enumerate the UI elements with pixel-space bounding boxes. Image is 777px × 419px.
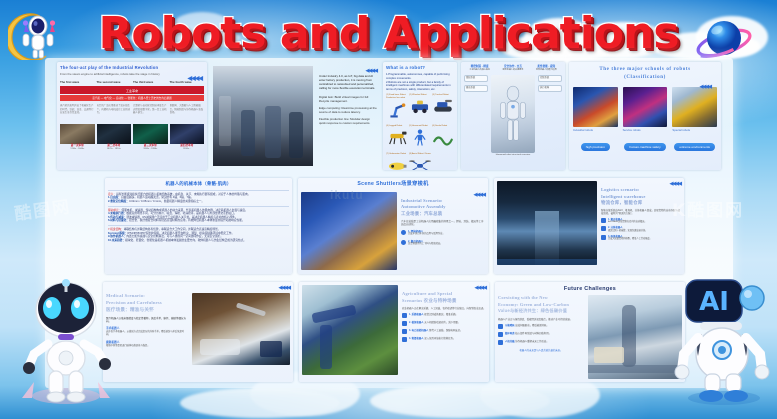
future-bullet-text: 核心部件再制造与材料回收利用。 — [515, 332, 551, 335]
future-factory-humanoid-photo — [588, 295, 682, 379]
future-bullet-title: 循环再造 — [505, 332, 515, 335]
panel-humanoid-overview: 精密制造 · 精度 工业机器人的核心指标 安全协作 · 交互 服务机器人的关键要… — [461, 62, 565, 170]
panel-three-schools: The three major schools of robots (Class… — [569, 62, 721, 170]
humanoid-tag: 精密制造 · 精度 工业机器人的核心指标 — [464, 65, 495, 72]
revolution-subtitle: From the steam engine to artificial inte… — [60, 72, 204, 76]
panel-logistics: ◀◀◀◀ Logistics scenario: Intelligent war… — [494, 178, 684, 274]
humanoid-sidecard: 执行机构 — [538, 85, 562, 92]
block-text: 根据应用场景不同，可分为夹爪、吸盘、焊枪、喷涂枪等，是机器人与外部世界交互的接口… — [126, 212, 236, 215]
humanoid-sidecard: 感知系统 — [464, 75, 488, 82]
logistics-title-en-1: Logistics scenario: — [601, 187, 681, 194]
humanoid-tag-sub: 工业机器人的核心指标 — [464, 69, 495, 72]
block-text: 自由度越多，机器人运动越灵活，常见的有 4轴、6轴、7轴。 — [121, 196, 193, 199]
future-bullet-title: 人机共融 — [505, 340, 515, 343]
block-text: 铝合金、碳纤维复合材料等轻质高强材料的应用，有效降低机器人本体重量并提升动态响应… — [129, 219, 245, 222]
agri-intro: 农业机器人正在解决采摘、人工短缺、农药喷洒等行业痛点，向智慧农业迈进。 — [402, 307, 486, 310]
industry40-paragraph: Under Industry 4.0, as IoT, big data and… — [319, 74, 377, 91]
steam-engine-photo — [60, 124, 95, 144]
bullet-marker-icon — [402, 313, 407, 318]
electrification-photo — [97, 124, 132, 144]
school-item-service: Service robots human-machine safety — [623, 87, 668, 153]
panel-what-is-a-robot: What is a robot? 1.Programmable, autonom… — [383, 62, 457, 170]
agri-bullet-text: 深入危险环境执行搜救任务。 — [424, 337, 455, 340]
humanoid-robot-icon — [409, 128, 431, 147]
robot-type-cell: (1) Fixed base Robot: Production line ro… — [386, 94, 408, 124]
intelligent-warehouse-photo — [497, 181, 597, 265]
block-tag: 2.重复定位精度： — [108, 200, 129, 203]
humanoid-robot-figure — [491, 75, 535, 153]
panel-industrial-revolution: The four-act play of the Industrial Revo… — [57, 62, 207, 170]
robot-type-cell: (6) Snake Robot — [432, 125, 454, 152]
col-years: 1950s - 1990s — [133, 148, 168, 151]
agri-title-en-1: Agriculture and Special — [402, 291, 486, 298]
robot-type-cell: (3) Tracked Robot — [432, 94, 454, 124]
scene-bullet-text: 完成车身白车身的点焊与弧焊作业。 — [408, 233, 445, 236]
scene-bullet-text: 负责零部件的上下料与物流转运。 — [408, 243, 442, 246]
scene-subtitle-cn: 工业场景：汽车总装 — [401, 211, 485, 218]
block-text: 串联结构与并联结构各有优势，串联适合大工作空间，并联适合高速高精度场景。 — [124, 228, 221, 231]
poster-root: Robots and Applications The four-act pla… — [0, 0, 777, 419]
humanoid-sidecards-left: 感知系统 驱动系统 — [464, 75, 488, 153]
humanoid-tag-sub: 特种机器人的能力边界 — [531, 69, 562, 72]
robot-type-cell: (2) Wheeled Robot — [409, 94, 431, 124]
school-pill[interactable]: extreme environments — [674, 143, 715, 151]
school-caption: Service robots — [623, 129, 668, 133]
medical-title-en-1: Medical Scenario: — [106, 293, 188, 300]
block-tag: 7.机身结构： — [108, 228, 124, 231]
block-tag: 4.末端执行器： — [108, 212, 126, 215]
bullet-marker-icon — [402, 321, 407, 326]
industry40-bullet: Flexible production line: Modular design… — [319, 117, 377, 125]
agricultural-robot-photo — [302, 285, 398, 375]
revolution-col-2: 电力的广泛应用推动了流水线生产，内燃机与电机成为工业新动力。 第二次革命 187… — [97, 104, 132, 151]
medical-bullet-text: 达芬奇手术机器人，以微创方式完成复杂的外科手术，降低创伤与术后恢复时间。 — [106, 331, 188, 338]
logistics-bullet-text: AGV/AMR实现货物在库内的自动搬运。 — [608, 221, 647, 224]
humanoid-sidecard: 驱动系统 — [464, 85, 488, 92]
medical-bullet-text: 帮助中风等患者进行肢体功能训练与恢复。 — [106, 345, 188, 348]
future-intro: 机器人产业正与绿色制造、低碳经济深度融合，推动产业可持续发展。 — [498, 318, 584, 321]
future-bullet-text: 协作机器人重塑未来工作形态。 — [515, 340, 548, 343]
bullet-marker-icon — [402, 329, 407, 334]
block-tag: 9.协作机器人： — [108, 235, 126, 238]
revolution-banner-sub: 蒸汽机 — 电气化 — 自动化 — 智能化：机器人登上历史舞台的四幕剧 — [60, 95, 204, 101]
schools-title-line2: (Classification) — [573, 74, 717, 82]
agri-bullet-title: 4. 救援机器人 — [409, 337, 424, 340]
humanoid-tag-sub: 服务机器人的关键要求 — [497, 69, 528, 72]
robot-type-grid: (1) Fixed base Robot: Production line ro… — [386, 94, 454, 170]
revolution-col-1: 蒸汽机的发明开启了机械化生产的时代，纺织、冶金、交通等行业发生革命性变化。 第一… — [60, 104, 95, 151]
mechanical-body-block: 2.重复定位精度：0.02mm / 0.05mm / 0.1mm，衡量机器人精度… — [108, 200, 289, 204]
panel-agriculture: ◀◀◀◀ Agriculture and Special Scenarios 农… — [299, 282, 489, 382]
future-bullet-title: 节能降耗 — [505, 324, 515, 327]
bullet-marker-icon — [601, 218, 606, 223]
revolution-chevrons: ◀◀◀◀ — [188, 75, 202, 82]
agri-bullet-title: 1. 采摘机器人 — [409, 313, 424, 316]
industrial-arm-icon — [386, 100, 408, 119]
block-text: 模块化、轻量化、智能化是机器人机械本体发展的主要方向，软体机器人与仿生结构正成为… — [125, 239, 246, 242]
industrial-robot-photo — [573, 87, 618, 127]
service-robot-photo — [623, 87, 668, 127]
robot-type-cell: (8) Aerial Robot / Drone — [409, 153, 431, 170]
wheeled-robot-icon — [409, 97, 431, 116]
scene-subtitle-en-1: Industrial Scenario: — [401, 198, 485, 205]
bullet-marker-icon — [498, 340, 503, 345]
underwater-robot-icon — [386, 156, 408, 170]
quadruped-robot-icon — [386, 128, 408, 147]
industry40-bullet: Digital twin: Build virtual images for f… — [319, 95, 377, 103]
bullet-marker-icon — [498, 332, 503, 337]
white-robot-mascot — [18, 278, 114, 406]
revolution-title: The four-act play of the Industrial Revo… — [60, 65, 204, 71]
future-title: Future Challenges — [498, 285, 682, 293]
block-text: 内置力矩传感器与安全控制算法，可与人类在同一空间协同作业，无需安全围栏。 — [126, 235, 223, 238]
block-tag: 1.自由度： — [108, 196, 121, 199]
medical-title-en-2: Precision and Carefulness — [106, 300, 188, 307]
automotive-assembly-line-photo — [301, 192, 397, 270]
scene-title: Scene Shuttlers场景穿梭机 — [301, 181, 485, 189]
school-pill[interactable]: human-machine safety — [624, 143, 665, 151]
agri-bullet-title: 2. 植保机器人 — [409, 321, 424, 324]
what-is-robot-title: What is a robot? — [386, 65, 454, 72]
industry40-bullet: Edge computing: Real-time processing at … — [319, 106, 377, 114]
page-title: Robots and Applications — [98, 8, 678, 59]
humanoid-tags: 精密制造 · 精度 工业机器人的核心指标 安全协作 · 交互 服务机器人的关键要… — [464, 65, 562, 72]
mechanical-body-title: 机器人的机械本体（骨骼-肌肉） — [108, 181, 289, 188]
ai-robot-mascot: AI — [672, 276, 776, 406]
schools-chevrons: ◀◀◀◀ — [700, 84, 711, 90]
medical-title-cn: 医疗场景：精准与关怀 — [106, 307, 188, 314]
surgical-robot-photo — [192, 293, 290, 365]
panel-scene-shuttlers: Scene Shuttlers场景穿梭机 ◀◀◀◀ Industrial Sce… — [298, 178, 488, 274]
drone-icon — [409, 156, 431, 170]
watermark-center: ikutu — [330, 188, 364, 202]
col-years: 1870s - 1910s — [97, 148, 132, 151]
col-head: The second wave — [97, 80, 132, 84]
bullet-marker-icon — [401, 230, 406, 235]
panel-medical: Medical Scenario: Precision and Carefuln… — [103, 282, 293, 382]
school-item-special: Special robots extreme environments — [672, 87, 717, 153]
agri-bullet-title: 3. 电力巡检机器人 — [409, 329, 428, 332]
bullet-marker-icon — [601, 226, 606, 231]
medical-chevrons: ◀◀◀◀ — [192, 285, 290, 291]
smart-factory-assembly-line-photo — [213, 66, 313, 166]
schools-title-line1: The three major schools of robots — [573, 66, 717, 74]
bullet-marker-icon — [601, 235, 606, 240]
school-caption: Industrial robots — [573, 129, 618, 133]
panel-industry40: ◀◀◀◀ Under Industry 4.0, as IoT, big dat… — [317, 66, 379, 166]
bullet-marker-icon — [402, 337, 407, 342]
future-title-en-1: Coexisting with the New — [498, 295, 584, 302]
tracked-robot-icon — [432, 97, 454, 116]
col-years: 1760s - 1840s — [60, 148, 95, 151]
future-title-cn: Value与新经济共生：绿色低碳价值 — [498, 308, 584, 314]
block-text: 0.02mm / 0.05mm / 0.1mm，衡量机器人精度的关键指标之一。 — [129, 200, 204, 203]
computer-automation-photo — [133, 124, 168, 144]
block-tag: 6.材料与轻量化： — [108, 219, 129, 222]
smart-manufacturing-photo — [170, 124, 205, 144]
humanoid-tag: 柔性智能 · 感知 特种机器人的能力边界 — [531, 65, 562, 72]
humanoid-sidecard: 控制系统 — [538, 75, 562, 82]
panel-mechanical-body: 机器人的机械本体（骨骼-肌肉） 定义：具有智能感知和执行能力的机器人机械结构系统… — [105, 178, 292, 274]
poster-title-wrap: Robots and Applications — [0, 8, 777, 59]
school-item-industrial: Industrial robots high precision — [573, 87, 618, 153]
revolution-col-4: 物联网、大数据与人工智能融合，智能制造与协作机器人全面登场。 第四次革命 201… — [170, 104, 205, 151]
humanoid-tag: 安全协作 · 交互 服务机器人的关键要求 — [497, 65, 528, 72]
humanoid-sidecards-right: 控制系统 执行机构 — [538, 75, 562, 153]
revolution-banner-top: 工业革命 — [60, 86, 204, 94]
future-bullet-text: 高效伺服驱动，降低能源消耗。 — [515, 324, 548, 327]
robot-type-cell: (7) Underwater Robot — [386, 153, 408, 170]
mechanical-body-block: 6.材料与轻量化：铝合金、碳纤维复合材料等轻质高强材料的应用，有效降低机器人本体… — [108, 219, 289, 223]
revolution-column-heads: The first wave The second wave The third… — [60, 80, 204, 84]
logistics-title-cn: 物流仓库，智能仓库 — [601, 200, 681, 207]
col-years: 2010s - — [170, 148, 205, 151]
robot-type-cell: (4) Legged Robot — [386, 125, 408, 152]
special-robot-photo — [672, 87, 717, 127]
logistics-bullet-text: 完成大批量货物的堆叠，降低人工劳动强度。 — [608, 238, 652, 241]
col-head: The third wave — [133, 80, 168, 84]
mechanical-body-block: 10.未来趋势：模块化、轻量化、智能化是机器人机械本体发展的主要方向，软体机器人… — [108, 239, 289, 243]
school-caption: Special robots — [672, 129, 717, 133]
content-board: The four-act play of the Industrial Revo… — [45, 58, 733, 388]
robot-type-cell: (5) Humanoid Robot — [409, 125, 431, 152]
medical-intro: 医疗机器人以毫米级精度与稳定性著称，涵盖手术、康复、辅助等细分方向。 — [106, 317, 188, 324]
logistics-bullet-text: 视觉识别＋机械臂，实现包裹高速分拣。 — [608, 230, 647, 233]
scene-intro: 汽车总装线是工业机器人应用最密集的场景之一，焊接、涂装、搬运等工序高度自动化。 — [401, 220, 485, 227]
agri-bullet-text: 视觉识别成熟果实，精准采摘。 — [424, 313, 457, 316]
revolution-columns: 蒸汽机的发明开启了机械化生产的时代，纺织、冶金、交通等行业发生革命性变化。 第一… — [60, 104, 204, 151]
what-is-robot-line: 1.Programmable, autonomous, capable of p… — [386, 73, 454, 81]
revolution-col-3: 计算机与自动化控制技术使生产过程实现数字化，第一台工业机器人诞生。 第三次革命 … — [133, 104, 168, 151]
col-head: The first wave — [60, 80, 95, 84]
block-tag: 10.未来趋势： — [108, 239, 125, 242]
humanoid-caption: Humanoid robot structural overview — [464, 154, 562, 157]
ai-badge-text: AI — [699, 287, 729, 317]
bullet-marker-icon — [401, 240, 406, 245]
agri-title-en-2: Scenarios 农业与特种场景 — [402, 298, 486, 305]
logistics-intro: 智能仓储系统由AGV、堆垛机、分拣机器人组成，实现货物的自动存取与高效周转，被称… — [601, 209, 681, 216]
agri-bullet-text: 替代人工巡线，保障电网安全。 — [429, 329, 462, 332]
future-footer: 机器人的未来是与人类共创共赢的未来。 — [498, 349, 584, 352]
bullet-marker-icon — [498, 324, 503, 329]
school-pill[interactable]: high precision — [581, 143, 610, 151]
agri-bullet-text: 无人机精准喷洒农药，减少用量。 — [424, 321, 460, 324]
snake-robot-icon — [432, 128, 454, 147]
panel-future-challenges: Future Challenges Coexisting with the Ne… — [495, 282, 685, 382]
what-is-robot-line: 2.Robots are not a single product, but a… — [386, 81, 454, 92]
